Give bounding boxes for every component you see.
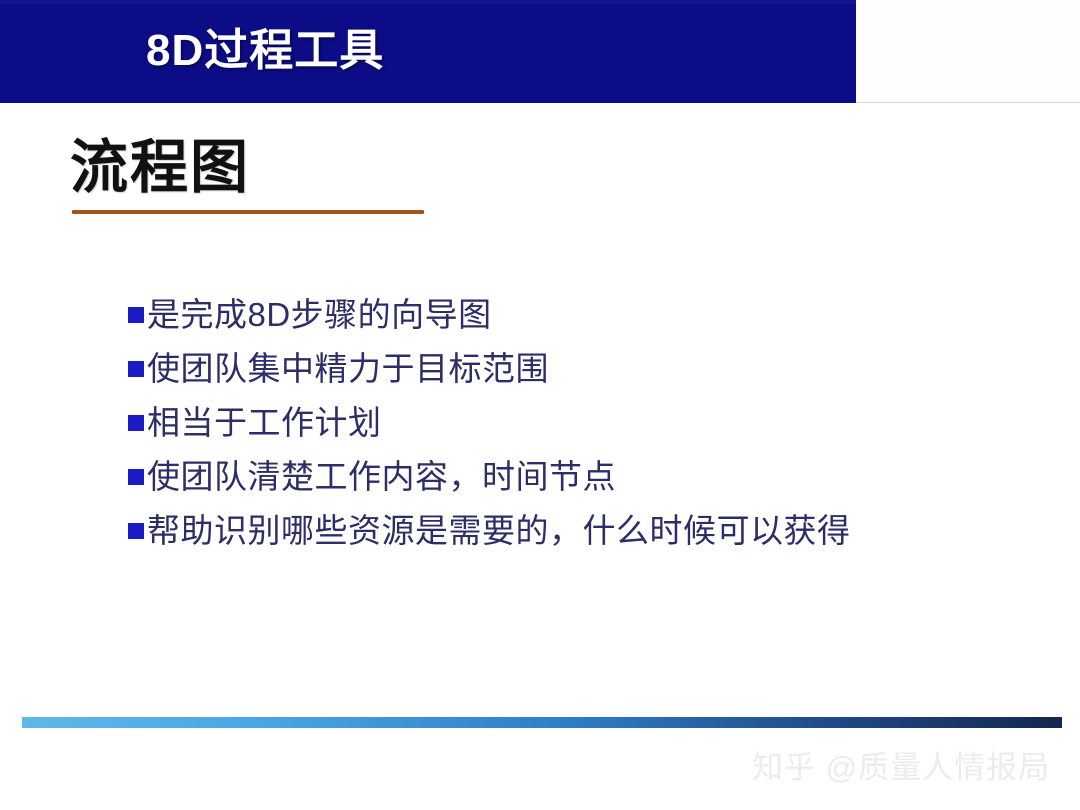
square-bullet-icon	[128, 361, 144, 377]
watermark-text: 知乎 @质量人情报局	[752, 748, 1050, 788]
list-item: 使团队集中精力于目标范围	[128, 350, 988, 388]
square-bullet-icon	[128, 415, 144, 431]
square-bullet-icon	[128, 307, 144, 323]
list-item: 使团队清楚工作内容，时间节点	[128, 458, 988, 496]
header-divider-line	[856, 102, 1080, 103]
list-item-label: 是完成8D步骤的向导图	[147, 296, 492, 334]
list-item-label: 相当于工作计划	[147, 404, 382, 442]
square-bullet-icon	[128, 469, 144, 485]
header-banner-highlight	[0, 0, 856, 4]
section-title: 流程图	[70, 130, 250, 206]
slide-header-title: 8D过程工具	[146, 16, 384, 86]
list-item: 帮助识别哪些资源是需要的，什么时候可以获得	[128, 512, 988, 550]
list-item: 是完成8D步骤的向导图	[128, 296, 988, 334]
list-item-label: 使团队清楚工作内容，时间节点	[147, 458, 616, 496]
square-bullet-icon	[128, 523, 144, 539]
list-item: 相当于工作计划	[128, 404, 988, 442]
header-right-area	[856, 0, 1080, 102]
section-title-underline	[72, 210, 424, 214]
bullet-list: 是完成8D步骤的向导图 使团队集中精力于目标范围 相当于工作计划 使团队清楚工作…	[128, 296, 988, 566]
list-item-label: 使团队集中精力于目标范围	[147, 350, 549, 388]
footer-gradient-bar	[22, 717, 1062, 728]
header-banner	[0, 0, 856, 103]
presentation-slide: 8D过程工具 流程图 是完成8D步骤的向导图 使团队集中精力于目标范围 相当于工…	[0, 0, 1080, 810]
list-item-label: 帮助识别哪些资源是需要的，什么时候可以获得	[147, 512, 851, 550]
